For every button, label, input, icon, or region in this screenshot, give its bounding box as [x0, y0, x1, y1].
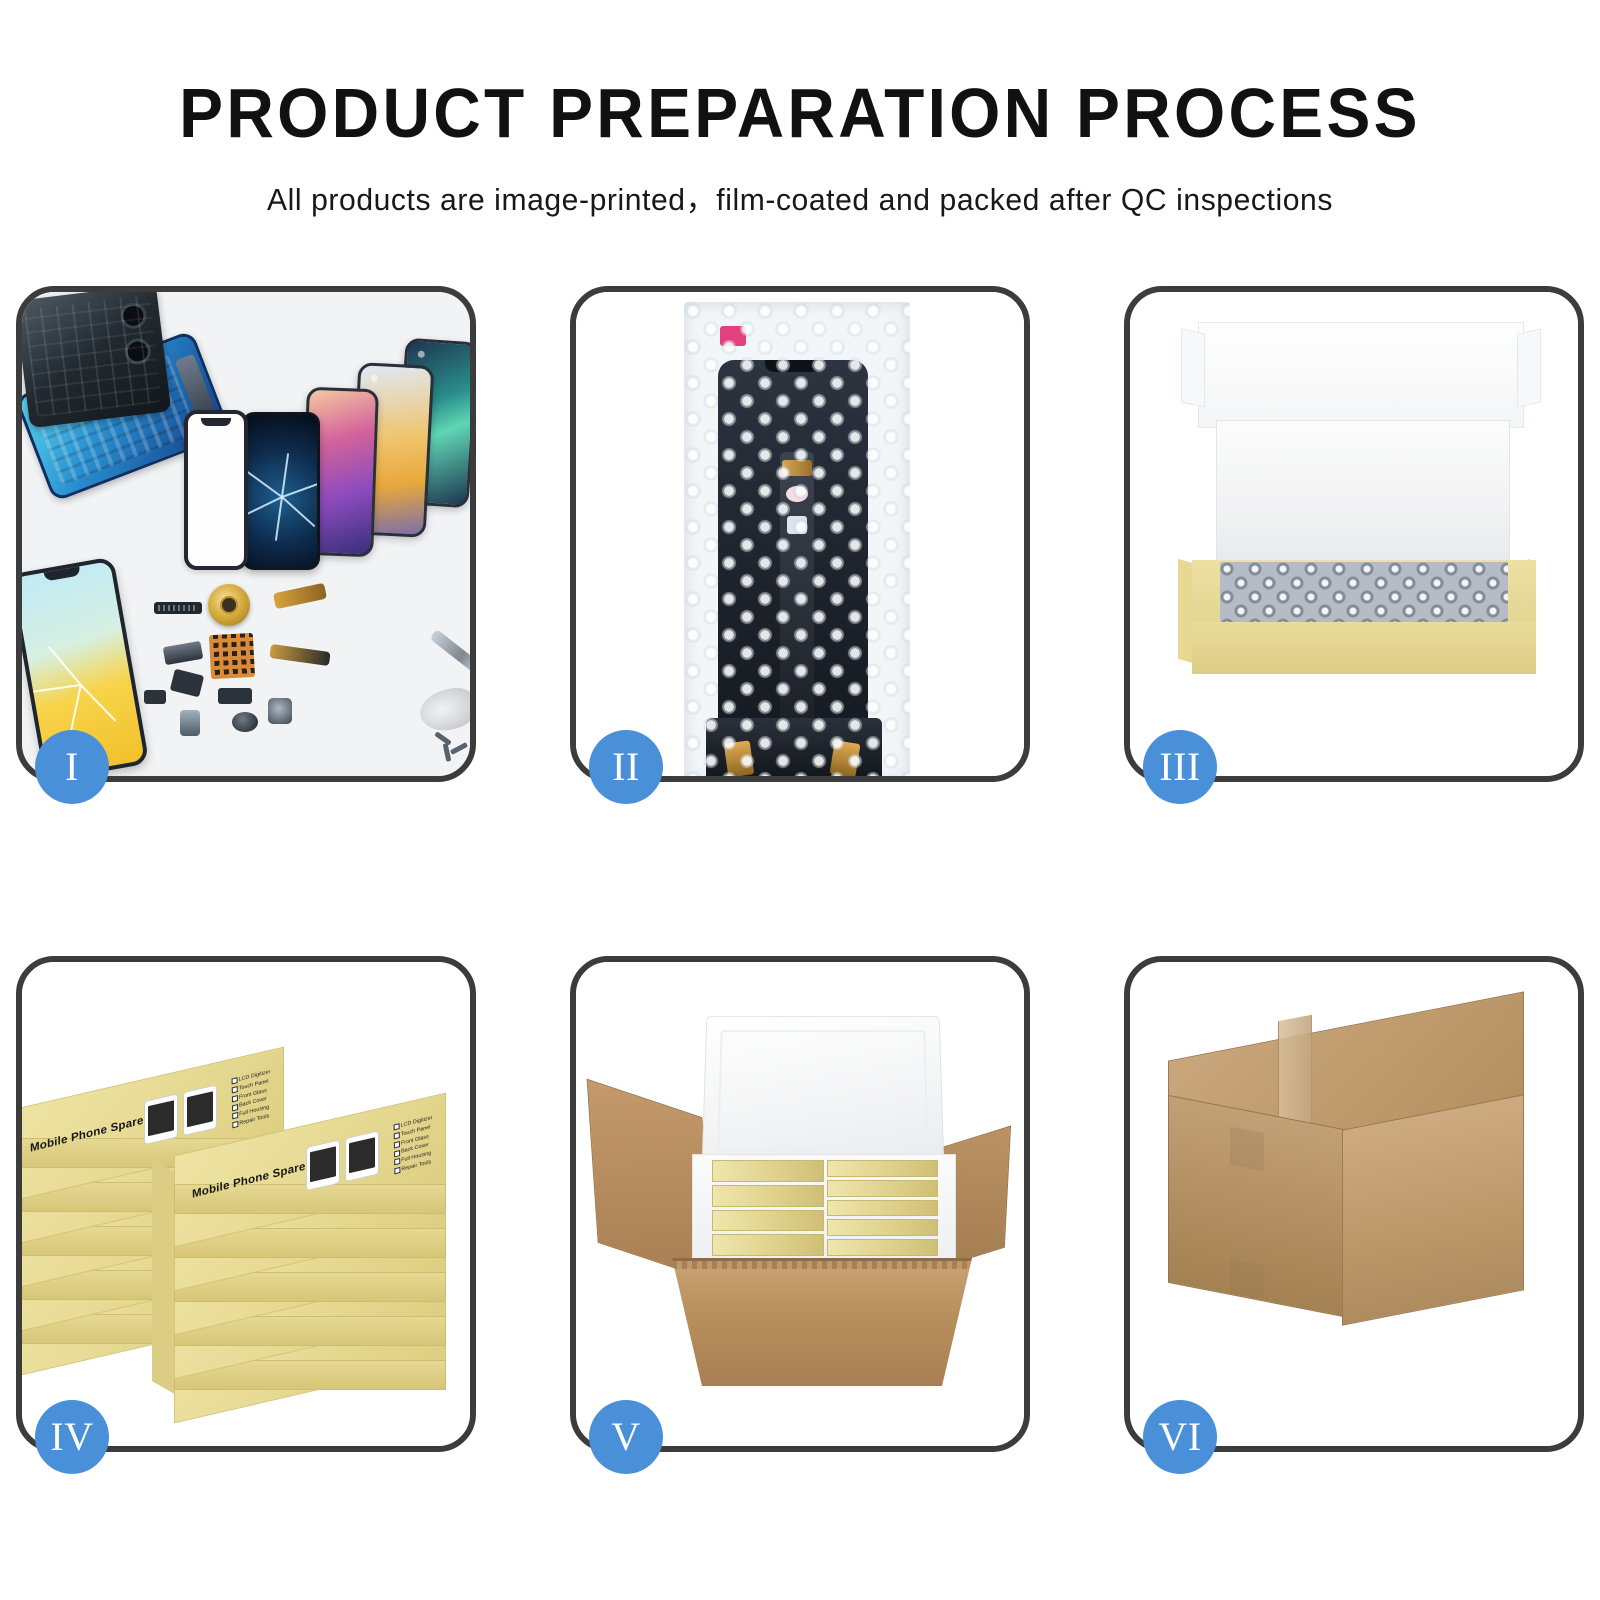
- small-part-5: [144, 690, 166, 704]
- step-panel-5: V: [570, 956, 1030, 1452]
- bubble-wrapped-contents: [1220, 562, 1508, 622]
- wireless-charge-coil: [208, 584, 250, 626]
- step-badge-2: II: [589, 730, 663, 804]
- small-part-4: [232, 712, 258, 732]
- flex-cable-1: [273, 583, 327, 609]
- step-image-6: [1130, 962, 1578, 1446]
- bubble-wrap-sleeve: [684, 302, 910, 776]
- carton-body-open: [672, 1258, 972, 1386]
- carton-tape-tab-bottom: [1230, 1259, 1264, 1300]
- bubble-texture: [684, 302, 910, 776]
- phone-cracked-screen: [242, 412, 320, 570]
- box-tray-front: [1192, 622, 1536, 674]
- small-part-3: [218, 688, 252, 704]
- step-image-3: [1130, 292, 1578, 776]
- step-numeral-6: VI: [1158, 1417, 1201, 1457]
- box-stack: Mobile Phone Spare Parts LCD Digitizer T…: [22, 962, 470, 1446]
- speaker-module: [154, 602, 202, 614]
- step-numeral-4: IV: [50, 1417, 93, 1457]
- small-part-1: [163, 641, 204, 665]
- sim-tray: [180, 710, 200, 736]
- step-numeral-1: I: [65, 747, 79, 787]
- step-panel-3: III: [1124, 286, 1584, 782]
- page-title: PRODUCT PREPARATION PROCESS: [48, 78, 1552, 148]
- step-badge-6: VI: [1143, 1400, 1217, 1474]
- step-image-2: [576, 292, 1024, 776]
- step-panel-4: Mobile Phone Spare Parts LCD Digitizer T…: [16, 956, 476, 1452]
- cleaning-brush: [416, 683, 470, 737]
- infographic-page: PRODUCT PREPARATION PROCESS All products…: [0, 0, 1600, 1600]
- carton-right-face: [1342, 1094, 1524, 1325]
- step-numeral-2: II: [612, 747, 640, 787]
- step-numeral-5: V: [611, 1417, 640, 1457]
- step-badge-3: III: [1143, 730, 1217, 804]
- box-lid-open: [1198, 322, 1524, 428]
- step-image-4: Mobile Phone Spare Parts LCD Digitizer T…: [22, 962, 470, 1446]
- carton-tape-tab-top: [1230, 1127, 1264, 1172]
- page-subtitle: All products are image-printed，film-coat…: [24, 174, 1576, 219]
- step-panel-1: I: [16, 286, 476, 782]
- screwdriver-tool: [429, 629, 470, 679]
- step-panel-2: II: [570, 286, 1030, 782]
- step-numeral-3: III: [1159, 747, 1200, 787]
- foam-lid-open: [702, 1016, 945, 1167]
- flex-cable-2: [269, 644, 330, 666]
- step-badge-1: I: [35, 730, 109, 804]
- phone-logic-board: [22, 292, 171, 428]
- step-panel-6: VI: [1124, 956, 1584, 1452]
- gold-boxes-inside: [712, 1160, 938, 1256]
- step-badge-4: IV: [35, 1400, 109, 1474]
- step-image-5: [576, 962, 1024, 1446]
- step-image-1: [22, 292, 470, 776]
- stacked-box-fr-top: Mobile Phone Spare Parts LCD Digitizer T…: [174, 1124, 446, 1244]
- front-glass-panel: [184, 410, 248, 570]
- screws-group: [434, 736, 470, 758]
- foam-insert: [1216, 420, 1510, 562]
- small-part-2: [170, 669, 204, 698]
- header: PRODUCT PREPARATION PROCESS All products…: [0, 0, 1600, 219]
- ic-chip: [209, 633, 255, 679]
- process-step-grid: I II: [16, 286, 1584, 1452]
- step-badge-5: V: [589, 1400, 663, 1474]
- retail-box-screen-images-front: [306, 1128, 388, 1191]
- camera-module: [268, 698, 292, 724]
